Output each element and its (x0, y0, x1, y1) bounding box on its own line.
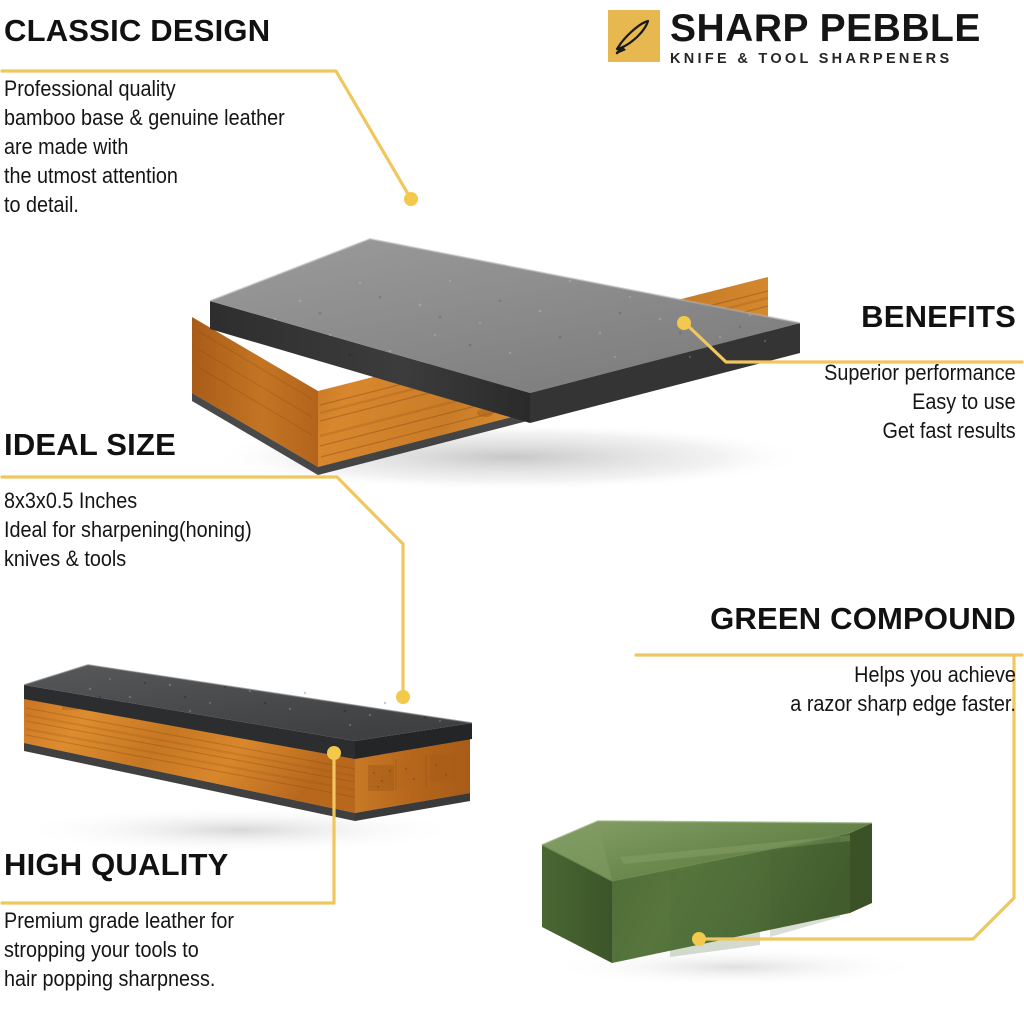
brand-wordmark: SHARP PEBBLE KNIFE & TOOL SHARPENERS (670, 10, 981, 68)
callout-body-benefits: Superior performance Easy to use Get fas… (825, 358, 1016, 445)
product-green-compound-bar (520, 775, 950, 990)
callout-body-ideal-size: 8x3x0.5 Inches Ideal for sharpening(honi… (4, 486, 252, 573)
callout-body-classic-design: Professional quality bamboo base & genui… (4, 74, 285, 219)
callout-benefits: BENEFITS Superior performance Easy to us… (798, 300, 1016, 445)
callout-line: 8x3x0.5 Inches (4, 486, 252, 515)
brand-name: SHARP PEBBLE (670, 10, 981, 48)
callout-ideal-size: IDEAL SIZE 8x3x0.5 Inches Ideal for shar… (4, 428, 285, 573)
callout-line: knives & tools (4, 544, 252, 573)
callout-line: bamboo base & genuine leather (4, 103, 285, 132)
callout-line: Professional quality (4, 74, 285, 103)
knife-icon (608, 10, 660, 62)
callout-line: stropping your tools to (4, 935, 234, 964)
callout-line: are made with (4, 132, 285, 161)
callout-title-high-quality: HIGH QUALITY (4, 848, 265, 882)
callout-body-green-compound: Helps you achieve a razor sharp edge fas… (747, 660, 1016, 718)
callout-line: Superior performance (825, 358, 1016, 387)
callout-title-classic-design: CLASSIC DESIGN (4, 14, 323, 48)
callout-line: Ideal for sharpening(honing) (4, 515, 252, 544)
brand-logo: SHARP PEBBLE KNIFE & TOOL SHARPENERS (608, 10, 1018, 72)
infographic-canvas: SHARP PEBBLE KNIFE & TOOL SHARPENERS CLA… (0, 0, 1024, 1022)
callout-line: Get fast results (825, 416, 1016, 445)
callout-body-high-quality: Premium grade leather for stropping your… (4, 906, 234, 993)
product-leather-strop-low-view (0, 645, 500, 875)
callout-line: Helps you achieve (747, 660, 1016, 689)
callout-line: a razor sharp edge faster. (747, 689, 1016, 718)
callout-line: hair popping sharpness. (4, 964, 234, 993)
callout-high-quality: HIGH QUALITY Premium grade leather for s… (4, 848, 265, 993)
callout-title-benefits: BENEFITS (798, 300, 1016, 334)
callout-title-green-compound: GREEN COMPOUND (710, 602, 1016, 636)
callout-title-ideal-size: IDEAL SIZE (4, 428, 285, 462)
callout-classic-design: CLASSIC DESIGN Professional quality bamb… (4, 14, 323, 219)
callout-line: the utmost attention (4, 161, 285, 190)
brand-tagline: KNIFE & TOOL SHARPENERS (670, 50, 981, 68)
callout-green-compound: GREEN COMPOUND Helps you achieve a razor… (710, 602, 1016, 718)
callout-line: Premium grade leather for (4, 906, 234, 935)
callout-line: to detail. (4, 190, 285, 219)
callout-line: Easy to use (825, 387, 1016, 416)
